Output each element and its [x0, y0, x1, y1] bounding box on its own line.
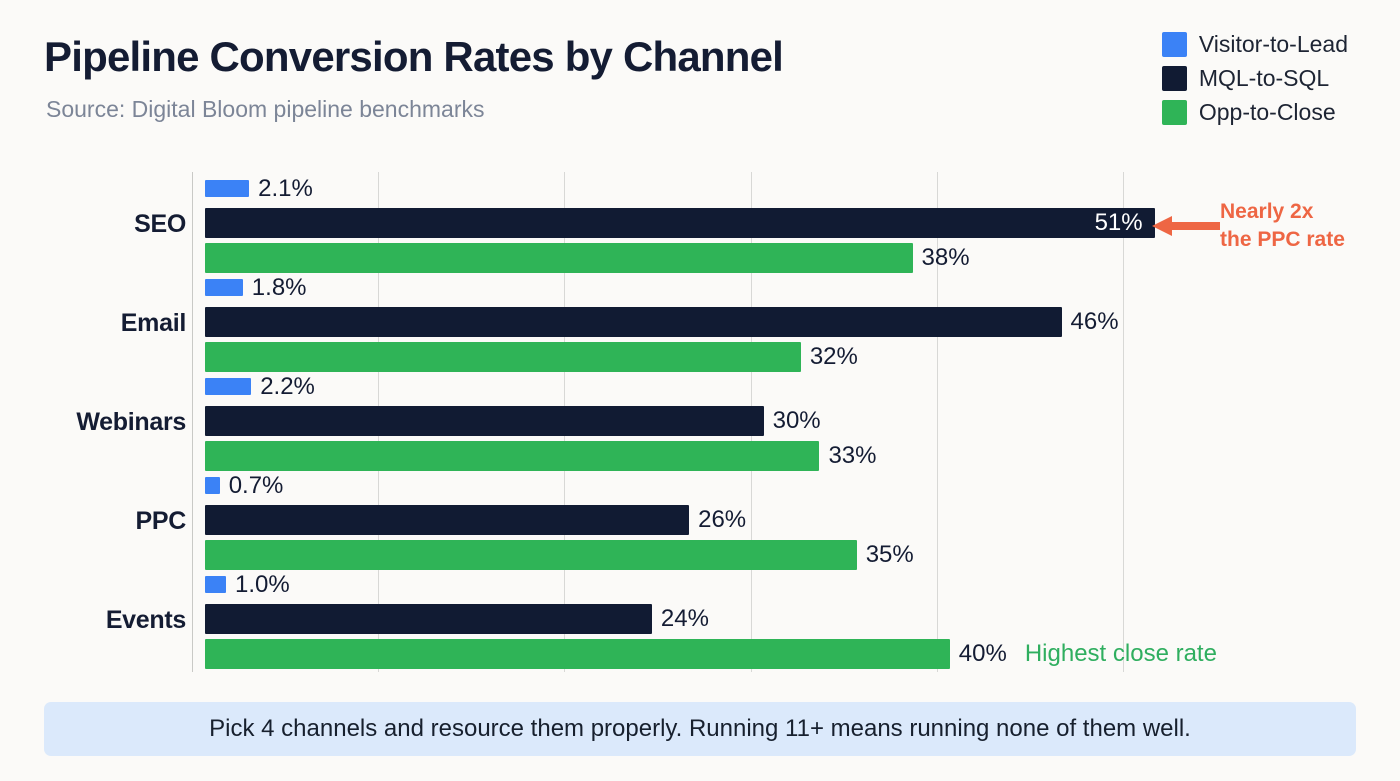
- seo-callout: Nearly 2x the PPC rate: [1152, 198, 1345, 253]
- bar-row: 40%Highest close rate: [205, 639, 1217, 669]
- bar-mql-to-sql[interactable]: [205, 307, 1062, 337]
- bar-row: 35%: [205, 540, 914, 570]
- footer-banner: Pick 4 channels and resource them proper…: [44, 702, 1356, 756]
- category-label: Events: [0, 606, 186, 635]
- bar-value-label: 24%: [661, 605, 709, 633]
- bar-row: 1.0%: [205, 576, 290, 593]
- page-title: Pipeline Conversion Rates by Channel: [44, 33, 783, 81]
- bar-wrapper: 1.0%: [205, 571, 290, 599]
- bar-opp-to-close[interactable]: [205, 243, 913, 273]
- category-label: SEO: [0, 210, 186, 239]
- bar-wrapper: 26%: [205, 505, 746, 535]
- bar-row: 0.7%: [205, 477, 283, 494]
- bar-value-label: 32%: [810, 343, 858, 371]
- bar-value-label: 46%: [1071, 308, 1119, 336]
- bar-mql-to-sql[interactable]: [205, 505, 689, 535]
- legend-item-mql-to-sql[interactable]: MQL-to-SQL: [1162, 64, 1329, 92]
- arrow-left-icon: [1152, 215, 1220, 237]
- bar-visitor-to-lead[interactable]: [205, 180, 249, 197]
- bar-value-label: 1.8%: [252, 274, 307, 302]
- bar-wrapper: 1.8%: [205, 274, 307, 302]
- category-label: Webinars: [0, 408, 186, 437]
- bar-value-label: 2.1%: [258, 175, 313, 203]
- bar-group-email: Email1.8%46%32%: [0, 275, 1400, 374]
- category-label: PPC: [0, 507, 186, 536]
- bar-wrapper: 24%: [205, 604, 709, 634]
- bar-value-label: 35%: [866, 541, 914, 569]
- bar-wrapper: 40%Highest close rate: [205, 639, 1217, 669]
- bar-row: 51%: [205, 208, 1155, 238]
- bar-value-label: 40%: [959, 640, 1007, 668]
- bar-row: 30%: [205, 406, 821, 436]
- events-highlight-note: Highest close rate: [1025, 640, 1217, 668]
- bar-row: 2.1%: [205, 180, 313, 197]
- footer-text: Pick 4 channels and resource them proper…: [209, 715, 1191, 743]
- legend-item-visitor-to-lead[interactable]: Visitor-to-Lead: [1162, 30, 1348, 58]
- legend-label: Opp-to-Close: [1199, 99, 1336, 126]
- chart-page: Pipeline Conversion Rates by Channel Sou…: [0, 0, 1400, 781]
- bar-wrapper: 33%: [205, 441, 877, 471]
- bar-group-events: Events1.0%24%40%Highest close rate: [0, 572, 1400, 671]
- bar-opp-to-close[interactable]: [205, 540, 857, 570]
- bar-wrapper: 30%: [205, 406, 821, 436]
- bar-row: 46%: [205, 307, 1119, 337]
- bar-wrapper: 32%: [205, 342, 858, 372]
- legend-label: Visitor-to-Lead: [1199, 31, 1348, 58]
- bar-mql-to-sql[interactable]: [205, 604, 652, 634]
- bar-value-label: 33%: [828, 442, 876, 470]
- bar-value-label: 0.7%: [229, 472, 284, 500]
- bar-wrapper: 2.2%: [205, 373, 315, 401]
- bar-row: 1.8%: [205, 279, 307, 296]
- bar-visitor-to-lead[interactable]: [205, 378, 251, 395]
- bar-visitor-to-lead[interactable]: [205, 279, 243, 296]
- legend-item-opp-to-close[interactable]: Opp-to-Close: [1162, 98, 1336, 126]
- bar-row: 24%: [205, 604, 709, 634]
- bar-row: 33%: [205, 441, 877, 471]
- category-label: Email: [0, 309, 186, 338]
- legend-swatch-icon: [1162, 66, 1187, 91]
- chart-legend: Visitor-to-Lead MQL-to-SQL Opp-to-Close: [1162, 30, 1348, 126]
- bar-value-label: 2.2%: [260, 373, 315, 401]
- bar-value-label: 1.0%: [235, 571, 290, 599]
- bar-wrapper: 0.7%: [205, 472, 283, 500]
- bar-wrapper: 46%: [205, 307, 1119, 337]
- chart-subtitle: Source: Digital Bloom pipeline benchmark…: [46, 96, 485, 123]
- bar-value-label: 26%: [698, 506, 746, 534]
- bar-row: 26%: [205, 505, 746, 535]
- bar-opp-to-close[interactable]: [205, 639, 950, 669]
- bar-opp-to-close[interactable]: [205, 342, 801, 372]
- legend-swatch-icon: [1162, 100, 1187, 125]
- seo-callout-text: Nearly 2x the PPC rate: [1220, 198, 1345, 253]
- bar-mql-to-sql[interactable]: 51%: [205, 208, 1155, 238]
- bar-wrapper: 51%: [205, 208, 1155, 238]
- chart-plot-area: SEO2.1%51%38%Email1.8%46%32%Webinars2.2%…: [0, 168, 1400, 674]
- bar-group-ppc: PPC0.7%26%35%: [0, 473, 1400, 572]
- bar-row: 38%: [205, 243, 970, 273]
- bar-value-label: 51%: [1095, 209, 1143, 237]
- bar-visitor-to-lead[interactable]: [205, 576, 226, 593]
- bar-mql-to-sql[interactable]: [205, 406, 764, 436]
- bar-value-label: 30%: [773, 407, 821, 435]
- bar-visitor-to-lead[interactable]: [205, 477, 220, 494]
- legend-label: MQL-to-SQL: [1199, 65, 1329, 92]
- bar-group-webinars: Webinars2.2%30%33%: [0, 374, 1400, 473]
- legend-swatch-icon: [1162, 32, 1187, 57]
- bar-wrapper: 38%: [205, 243, 970, 273]
- bar-opp-to-close[interactable]: [205, 441, 819, 471]
- bar-row: 2.2%: [205, 378, 315, 395]
- bar-row: 32%: [205, 342, 858, 372]
- bar-wrapper: 35%: [205, 540, 914, 570]
- bar-wrapper: 2.1%: [205, 175, 313, 203]
- bar-value-label: 38%: [922, 244, 970, 272]
